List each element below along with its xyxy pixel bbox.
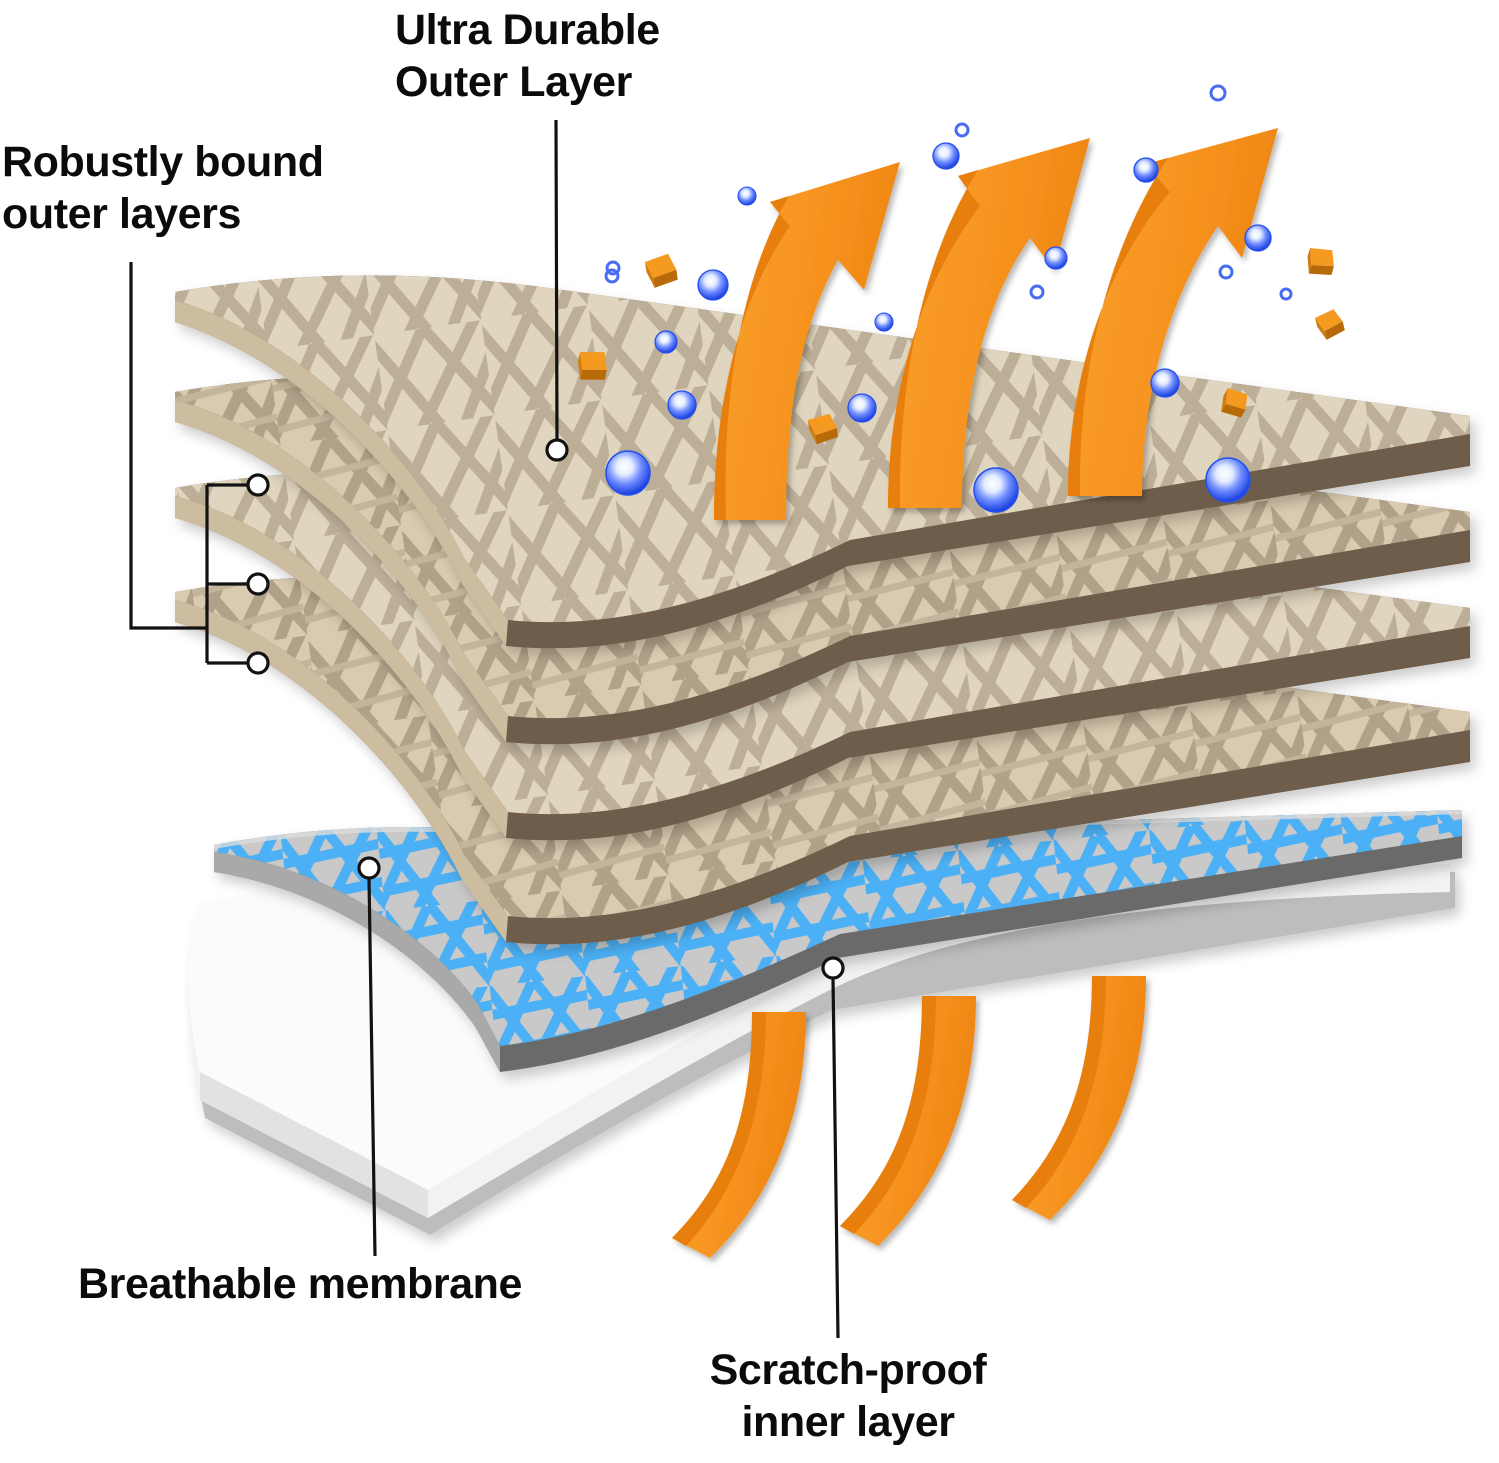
inward-arrow-2	[840, 996, 976, 1246]
inward-arrow-3	[1012, 976, 1146, 1220]
dirt-cube	[1303, 244, 1338, 280]
dirt-cube	[644, 253, 678, 289]
callout-scratch-leader	[823, 958, 843, 1338]
diagram-canvas: Ultra Durable Outer Layer Robustly bound…	[0, 0, 1499, 1463]
callout-label-outer-layer: Ultra Durable Outer Layer	[395, 4, 755, 109]
callout-label-scratch-proof: Scratch-proof inner layer	[648, 1344, 1048, 1449]
callout-label-breathable-membrane: Breathable membrane	[78, 1258, 718, 1310]
dirt-cube	[1314, 308, 1346, 341]
callout-label-bound-layers: Robustly bound outer layers	[2, 136, 432, 241]
